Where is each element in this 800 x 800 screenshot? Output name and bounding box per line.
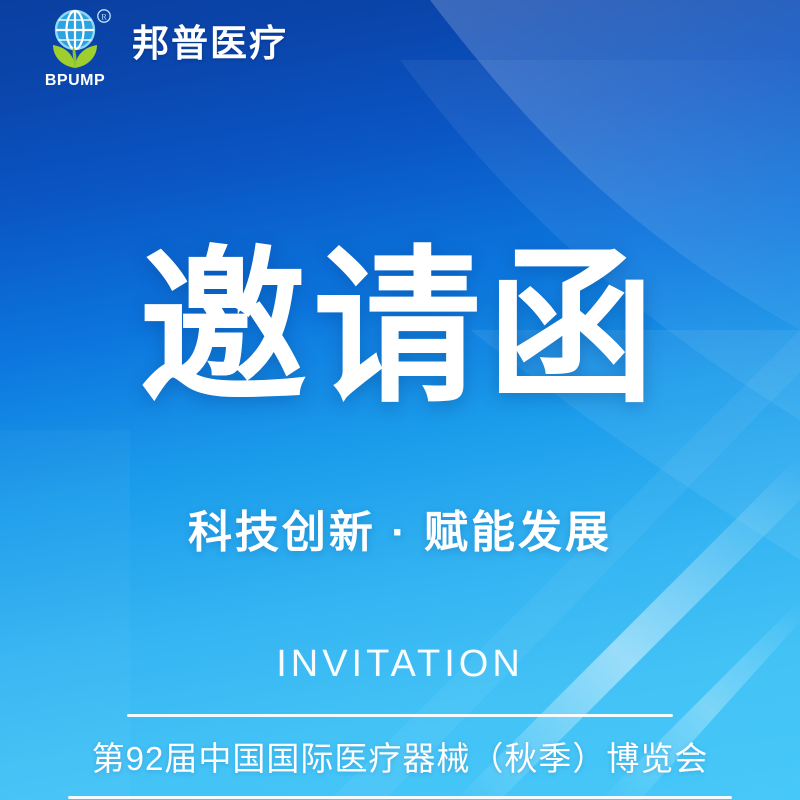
logo-wordmark: BPUMP — [45, 72, 105, 88]
svg-text:R: R — [101, 12, 107, 21]
event-name: 第92届中国国际医疗器械（秋季）博览会 — [0, 717, 800, 796]
divider-bottom — [68, 796, 732, 799]
subtitle-slogan: 科技创新 · 赋能发展 — [0, 511, 800, 555]
brand-name: 邦普医疗 — [132, 25, 288, 70]
footer-block: 第92届中国国际医疗器械（秋季）博览会 — [0, 714, 800, 799]
bpump-logo-icon: R BPUMP — [44, 6, 118, 88]
invitation-english-label: INVITATION — [0, 645, 800, 683]
brand-header: R BPUMP 邦普医疗 — [44, 6, 288, 88]
page-title: 邀请函 — [0, 244, 800, 412]
invitation-poster: R BPUMP 邦普医疗 邀请函 科技创新 · 赋能发展 INVITATION … — [0, 0, 800, 800]
